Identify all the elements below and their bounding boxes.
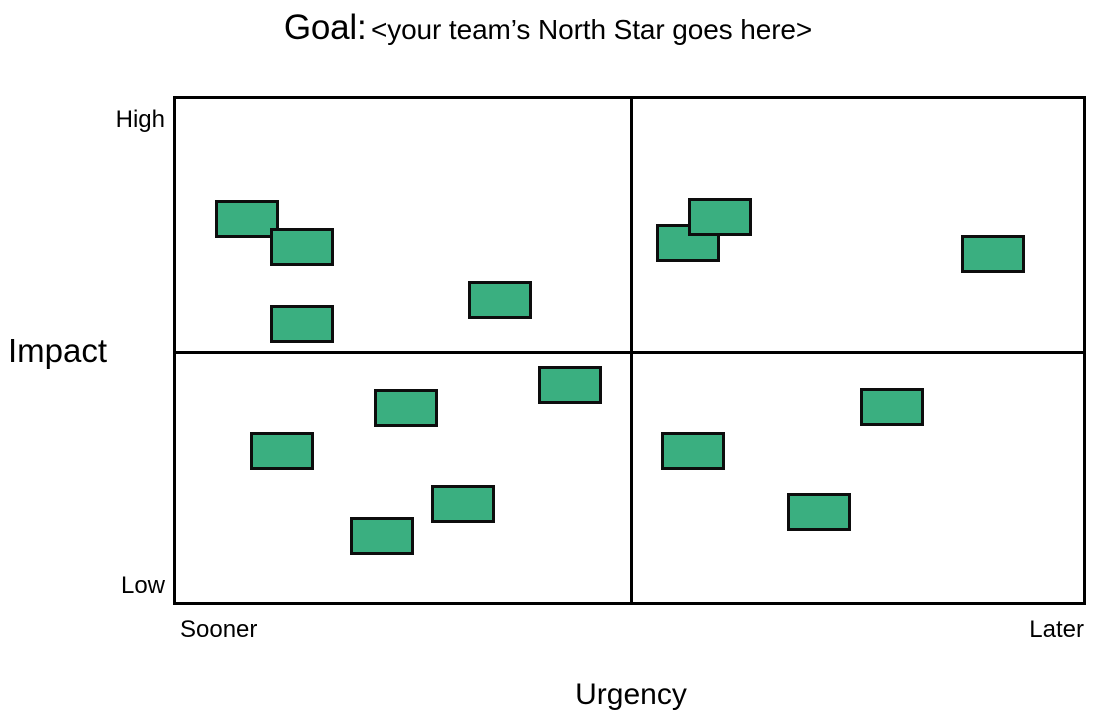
chart-item-box[interactable] <box>961 235 1025 273</box>
y-axis-label: Impact <box>8 334 107 367</box>
chart-item-box[interactable] <box>688 198 752 236</box>
chart-item-box[interactable] <box>468 281 532 319</box>
y-axis-tick-high: High <box>116 108 165 132</box>
x-axis-tick-later: Later <box>1029 618 1084 642</box>
chart-item-box[interactable] <box>250 432 314 470</box>
page-title: Goal: <your team’s North Star goes here> <box>0 10 1096 45</box>
chart-item-box[interactable] <box>270 228 334 266</box>
chart-item-box[interactable] <box>538 366 602 404</box>
y-axis-tick-low: Low <box>121 574 165 598</box>
quadrant-divider-horizontal <box>176 351 1083 354</box>
chart-item-box[interactable] <box>270 305 334 343</box>
page-title-lead: Goal: <box>284 8 367 47</box>
x-axis-label: Urgency <box>0 680 1096 710</box>
chart-item-box[interactable] <box>787 493 851 531</box>
chart-item-box[interactable] <box>661 432 725 470</box>
plot-area <box>176 99 1083 602</box>
page-title-placeholder: <your team’s North Star goes here> <box>371 14 812 45</box>
chart-item-box[interactable] <box>860 388 924 426</box>
quadrant-chart-frame <box>173 96 1086 605</box>
chart-item-box[interactable] <box>374 389 438 427</box>
x-axis-tick-sooner: Sooner <box>180 618 257 642</box>
chart-item-box[interactable] <box>431 485 495 523</box>
chart-item-box[interactable] <box>350 517 414 555</box>
